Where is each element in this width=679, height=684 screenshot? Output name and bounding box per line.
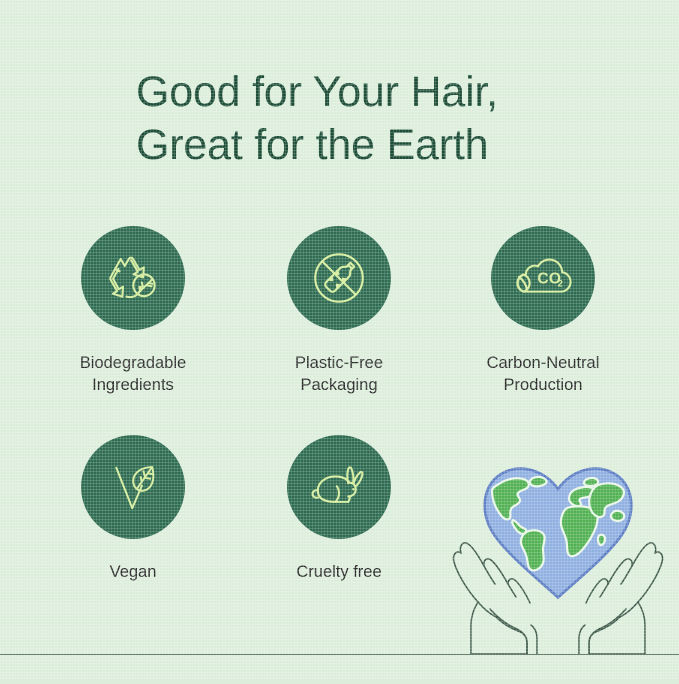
feature-icon-circle <box>287 226 391 330</box>
feature-vegan: Vegan <box>48 435 218 583</box>
recycling-leaf-icon <box>102 247 164 309</box>
page-title: Good for Your Hair, Great for the Earth <box>136 66 656 172</box>
co2-icon-subscript: 2 <box>558 277 563 288</box>
rabbit-icon <box>307 455 371 519</box>
feature-icon-circle <box>81 435 185 539</box>
poster-canvas: Good for Your Hair, Great for the Earth <box>0 0 679 679</box>
feature-label: Vegan <box>48 561 218 583</box>
feature-plastic-free-packaging: Plastic-Free Packaging <box>254 226 424 396</box>
heart-earth-globe <box>485 469 632 598</box>
vegan-leaf-v-icon <box>103 457 163 517</box>
co2-cloud-leaf-icon: CO 2 <box>511 246 575 310</box>
feature-label: Plastic-Free Packaging <box>254 352 424 396</box>
feature-label: Cruelty free <box>254 561 424 583</box>
feature-biodegradable-ingredients: Biodegradable Ingredients <box>48 226 218 396</box>
feature-icon-circle <box>287 435 391 539</box>
feature-icon-circle: CO 2 <box>491 226 595 330</box>
baseline-divider <box>0 654 679 655</box>
feature-icon-circle <box>81 226 185 330</box>
feature-cruelty-free: Cruelty free <box>254 435 424 583</box>
feature-label: Biodegradable Ingredients <box>48 352 218 396</box>
no-plastic-bottle-icon <box>308 247 370 309</box>
feature-carbon-neutral-production: CO 2 Carbon-Neutral Production <box>458 226 628 396</box>
heart-earth-in-hands-illustration <box>437 437 679 679</box>
feature-label: Carbon-Neutral Production <box>458 352 628 396</box>
